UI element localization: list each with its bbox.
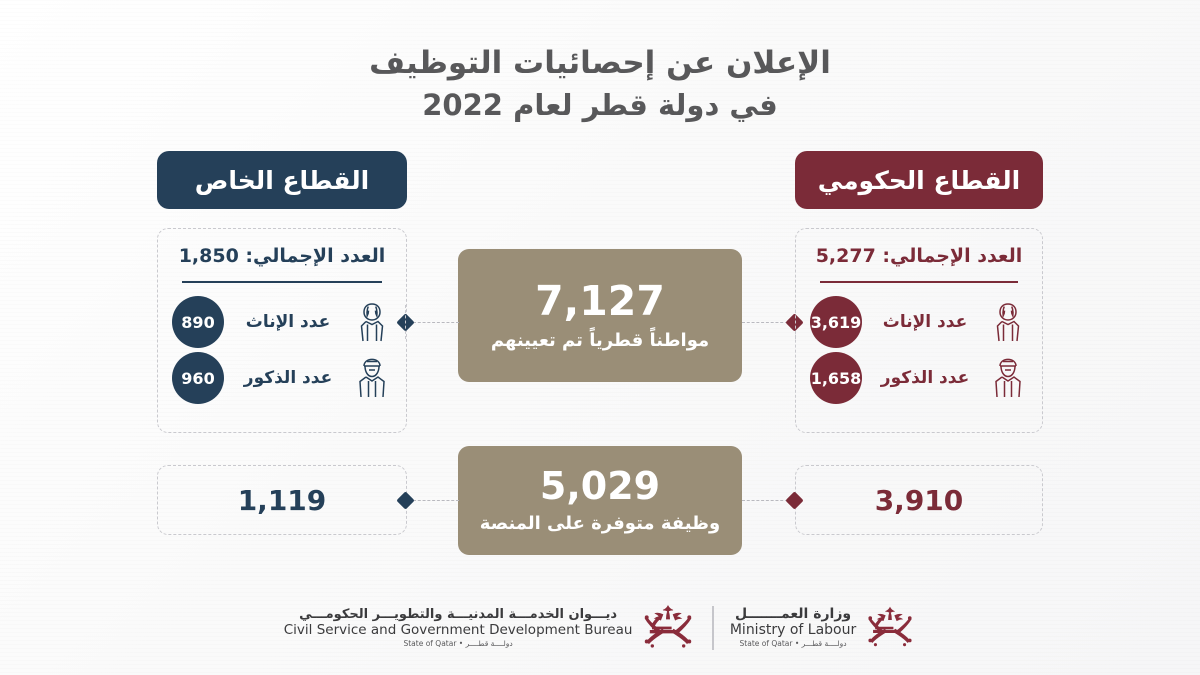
connector-line-right-bottom — [742, 500, 788, 501]
civil-service-bureau-state: دولــــة قطــــر • State of Qatar — [284, 640, 633, 648]
government-sector-header[interactable]: القطاع الحكومي — [795, 151, 1043, 209]
footer-divider — [712, 606, 713, 650]
title-line-1: الإعلان عن إحصائيات التوظيف — [0, 42, 1200, 85]
private-females-count: 890 — [172, 296, 224, 348]
government-sector-panel: العدد الإجمالي: 5,277 عدد الإناث 3,619 — [795, 228, 1043, 433]
hired-citizens-card: 7,127 مواطناً قطرياً تم تعيينهم — [458, 249, 742, 382]
government-divider — [820, 281, 1018, 283]
ministry-of-labour-logo: وزارة العمـــــــل Ministry of Labour دو… — [730, 602, 916, 654]
private-sector-header-label: القطاع الخاص — [195, 166, 369, 195]
connector-line-left-bottom — [413, 500, 459, 501]
connector-line-left-top — [413, 322, 459, 323]
male-person-icon — [352, 357, 392, 399]
page-title: الإعلان عن إحصائيات التوظيف في دولة قطر … — [0, 42, 1200, 125]
government-sector-header-label: القطاع الحكومي — [818, 166, 1020, 195]
footer: وزارة العمـــــــل Ministry of Labour دو… — [0, 593, 1200, 663]
civil-service-bureau-english: Civil Service and Government Development… — [284, 623, 633, 638]
ministry-of-labour-english: Ministry of Labour — [730, 623, 856, 639]
private-divider — [182, 281, 382, 283]
ministry-of-labour-arabic: وزارة العمـــــــل — [730, 607, 856, 623]
private-sector-header[interactable]: القطاع الخاص — [157, 151, 407, 209]
title-line-2: في دولة قطر لعام 2022 — [0, 85, 1200, 125]
available-jobs-caption: وظيفة متوفرة على المنصة — [480, 513, 720, 534]
hired-citizens-caption: مواطناً قطرياً تم تعيينهم — [491, 330, 709, 351]
female-person-icon — [988, 301, 1028, 343]
government-vacancies-value: 3,910 — [875, 484, 964, 517]
government-vacancies-panel: 3,910 — [795, 465, 1043, 535]
qatar-state-emblem — [640, 600, 696, 656]
infographic-stage: الإعلان عن إحصائيات التوظيف في دولة قطر … — [0, 0, 1200, 675]
female-person-icon — [352, 301, 392, 343]
private-males-row: عدد الذكور 960 — [172, 349, 392, 407]
private-females-row: عدد الإناث 890 — [172, 293, 392, 351]
private-males-label: عدد الذكور — [224, 368, 352, 388]
private-sector-panel: العدد الإجمالي: 1,850 عدد الإناث 890 — [157, 228, 407, 433]
government-total-label: العدد الإجمالي: 5,277 — [796, 245, 1042, 267]
government-females-count: 3,619 — [810, 296, 862, 348]
private-total-label: العدد الإجمالي: 1,850 — [158, 245, 406, 267]
private-females-label: عدد الإناث — [224, 312, 352, 332]
government-females-row: عدد الإناث 3,619 — [810, 293, 1028, 351]
connector-line-right-top — [742, 322, 788, 323]
available-jobs-value: 5,029 — [540, 467, 660, 507]
civil-service-bureau-arabic: ديـــوان الخدمـــة المدنيـــة والتطويـــ… — [284, 608, 633, 623]
available-jobs-card: 5,029 وظيفة متوفرة على المنصة — [458, 446, 742, 555]
connector-line-right-top-vert — [795, 305, 796, 339]
male-person-icon — [988, 357, 1028, 399]
government-males-count: 1,658 — [810, 352, 862, 404]
civil-service-bureau-logo: ديـــوان الخدمـــة المدنيـــة والتطويـــ… — [284, 600, 697, 656]
private-vacancies-panel: 1,119 — [157, 465, 407, 535]
government-females-label: عدد الإناث — [862, 312, 988, 332]
government-males-row: عدد الذكور 1,658 — [810, 349, 1028, 407]
ministry-of-labour-state: دولــــة قطـــر • State of Qatar — [730, 640, 856, 648]
hired-citizens-value: 7,127 — [535, 280, 665, 323]
connector-line-left-top-vert — [405, 305, 406, 339]
private-vacancies-value: 1,119 — [238, 484, 327, 517]
private-males-count: 960 — [172, 352, 224, 404]
qatar-state-emblem — [864, 602, 916, 654]
government-males-label: عدد الذكور — [862, 368, 988, 388]
